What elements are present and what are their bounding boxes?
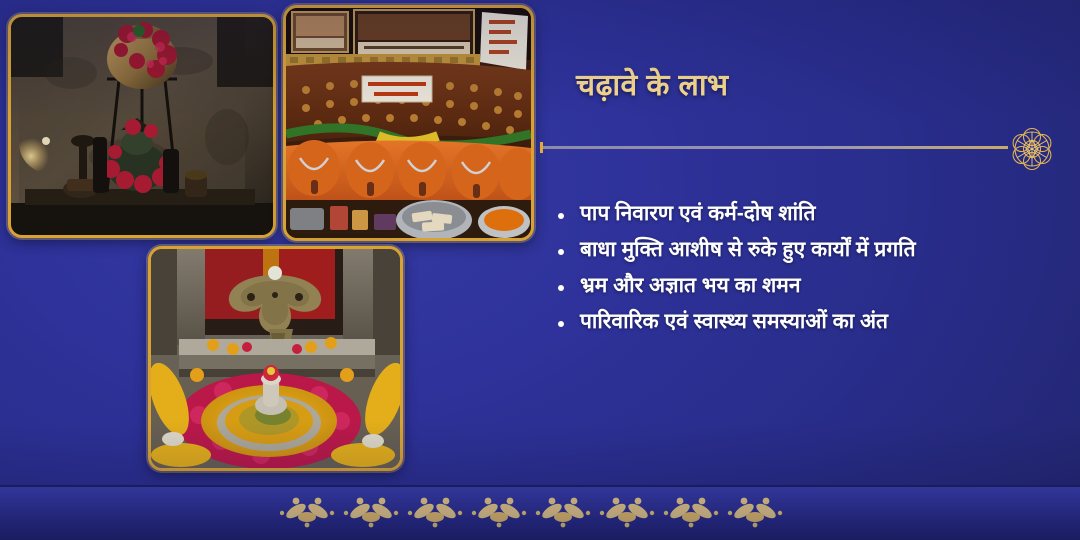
list-item: पाप निवारण एवं कर्म-दोष शांति [548,200,1048,229]
divider-line-icon [543,146,1008,149]
footer-band [0,485,1080,540]
photo-shivling-naga[interactable] [148,246,403,471]
bullet-dot-icon [558,321,564,327]
bullet-dot-icon [558,249,564,255]
photo-shrine-kalash[interactable] [8,14,276,238]
list-item-label: पाप निवारण एवं कर्म-दोष शांति [580,202,815,225]
page-title: चढ़ावे के लाभ [576,68,729,104]
photo-deity-offerings-image [286,8,531,238]
photo-deity-offerings[interactable] [283,5,534,241]
bullet-dot-icon [558,213,564,219]
list-item: पारिवारिक एवं स्वास्थ्य समस्याओं का अंत [548,308,1048,337]
list-item: बाधा मुक्ति आशीष से रुके हुए कार्यों में… [548,236,1048,265]
slide-root: चढ़ावे के लाभ पाप [0,0,1080,540]
bullet-dot-icon [558,285,564,291]
list-item: भ्रम और अज्ञात भय का शमन [548,272,1048,301]
photo-shivling-naga-image [151,249,400,468]
list-item-label: भ्रम और अज्ञात भय का शमन [580,274,800,297]
list-item-label: पारिवारिक एवं स्वास्थ्य समस्याओं का अंत [580,310,888,333]
list-item-label: बाधा मुक्ति आशीष से रुके हुए कार्यों में… [580,238,916,261]
mandala-flower-icon [1004,121,1060,177]
header-divider [540,142,1060,154]
photo-shrine-kalash-image [11,17,273,235]
benefits-list: पाप निवारण एवं कर्म-दोष शांति बाधा मुक्त… [548,200,1048,344]
lotus-border-icon [280,495,800,529]
